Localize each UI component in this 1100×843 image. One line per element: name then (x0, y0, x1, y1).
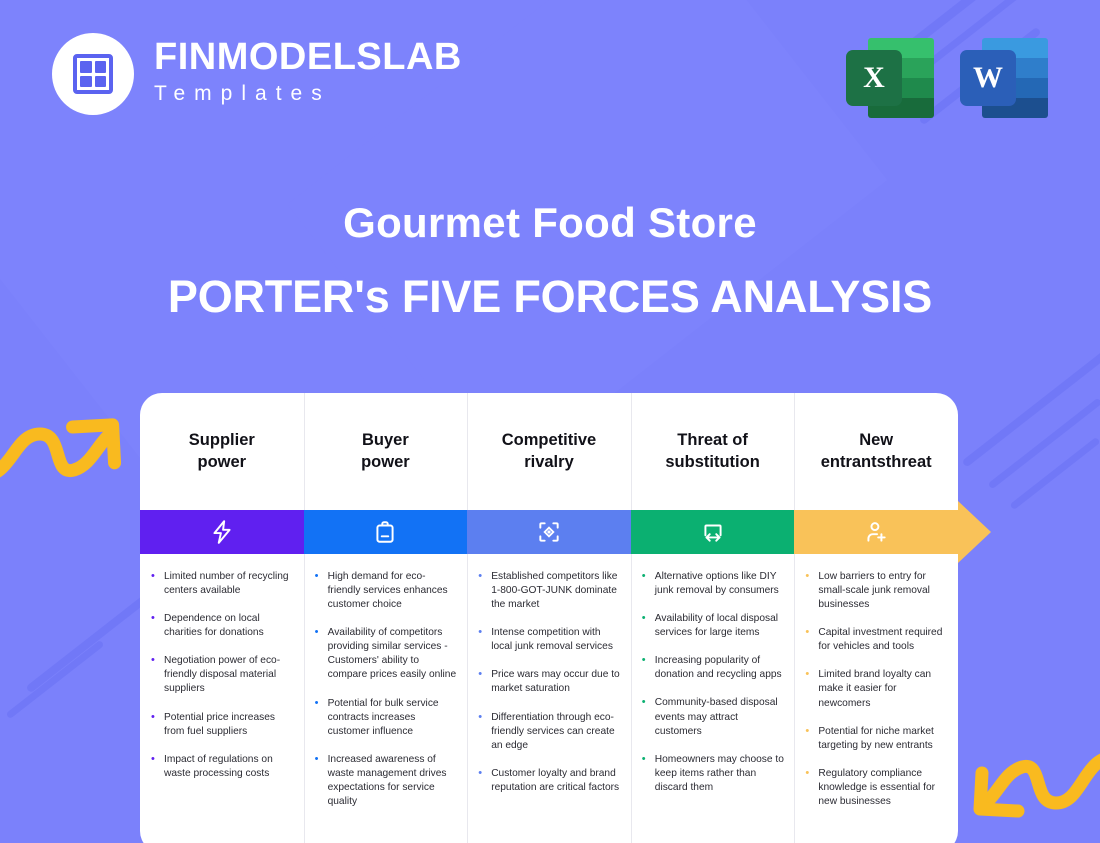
office-format-icons: X W (846, 30, 1048, 118)
force-header-new-entrants-threat: New entrantsthreat (794, 393, 958, 510)
page-header: FINMODELSLAB Templates X W (0, 0, 1100, 150)
bullet-item: Limited brand loyalty can make it easier… (802, 668, 948, 710)
bullet-item: Availability of competitors providing si… (312, 626, 458, 682)
brand-name: FINMODELSLAB (154, 38, 462, 78)
force-bullets-competitive-rivalry: Established competitors like 1-800-GOT-J… (467, 554, 631, 843)
bullet-item: Low barriers to entry for small-scale ju… (802, 570, 948, 612)
curved-arrow-up-right-icon (0, 404, 127, 484)
bullet-item: Potential for niche market targeting by … (802, 725, 948, 753)
bullet-item: Intense competition with local junk remo… (475, 626, 621, 654)
bullet-item: Availability of local disposal services … (639, 612, 785, 640)
force-column-buyer-power: Buyer power High demand for eco-friendly… (304, 393, 468, 843)
brand-logo[interactable]: FINMODELSLAB Templates (52, 33, 462, 115)
bullet-item: Limited number of recycling centers avai… (148, 570, 294, 598)
force-title-line1: Competitive (502, 431, 596, 449)
title-block: Gourmet Food Store PORTER's FIVE FORCES … (0, 198, 1100, 324)
briefcase-minus-icon (372, 519, 398, 545)
force-band-new-entrants-threat (794, 510, 958, 554)
logo-circle (52, 33, 134, 115)
bullet-item: Alternative options like DIY junk remova… (639, 570, 785, 598)
lightning-bolt-icon (209, 519, 235, 545)
bullet-item: Impact of regulations on waste processin… (148, 753, 294, 781)
force-title-line2: power (197, 453, 246, 471)
force-header-competitive-rivalry: Competitive rivalry (467, 393, 631, 510)
force-title-line1: Threat of (677, 431, 748, 449)
bullet-item: Increased awareness of waste management … (312, 753, 458, 809)
bullet-item: Capital investment required for vehicles… (802, 626, 948, 654)
grid-squares-icon (73, 54, 113, 94)
bullet-item: High demand for eco-friendly services en… (312, 570, 458, 612)
word-badge: W (960, 50, 1016, 106)
force-title-line2: entrantsthreat (821, 453, 932, 471)
force-header-threat-of-substitution: Threat of substitution (631, 393, 795, 510)
bullet-item: Regulatory compliance knowledge is essen… (802, 767, 948, 809)
force-bullets-buyer-power: High demand for eco-friendly services en… (304, 554, 468, 843)
force-column-competitive-rivalry: Competitive rivalry Established competit… (467, 393, 631, 843)
force-band-threat-of-substitution (631, 510, 795, 554)
force-title-line2: substitution (665, 453, 759, 471)
bullet-item: Homeowners may choose to keep items rath… (639, 753, 785, 795)
bullet-item: Dependence on local charities for donati… (148, 612, 294, 640)
curved-arrow-down-left-icon (964, 743, 1100, 828)
force-column-supplier-power: Supplier power Limited number of recycli… (140, 393, 304, 843)
force-title-line2: power (361, 453, 410, 471)
force-title-line1: Supplier (189, 431, 255, 449)
user-plus-icon (863, 519, 889, 545)
force-bullets-supplier-power: Limited number of recycling centers avai… (140, 554, 304, 843)
bullet-item: Customer loyalty and brand reputation ar… (475, 767, 621, 795)
excel-icon[interactable]: X (846, 30, 934, 118)
page-subtitle: PORTER's FIVE FORCES ANALYSIS (0, 270, 1100, 324)
bullet-item: Negotiation power of eco-friendly dispos… (148, 654, 294, 696)
force-title-line1: New (859, 431, 893, 449)
bullet-item: Community-based disposal events may attr… (639, 696, 785, 738)
force-column-new-entrants-threat: New entrantsthreat Low barriers to entry… (794, 393, 958, 843)
target-focus-icon (536, 519, 562, 545)
force-band-competitive-rivalry (467, 510, 631, 554)
force-bullets-new-entrants-threat: Low barriers to entry for small-scale ju… (794, 554, 958, 843)
porters-five-forces-card: Supplier power Limited number of recycli… (140, 393, 958, 843)
bullet-item: Potential for bulk service contracts inc… (312, 697, 458, 739)
force-title-line1: Buyer (362, 431, 409, 449)
bullet-item: Differentiation through eco-friendly ser… (475, 711, 621, 753)
bullet-item: Price wars may occur due to market satur… (475, 668, 621, 696)
bullet-item: Potential price increases from fuel supp… (148, 711, 294, 739)
force-header-supplier-power: Supplier power (140, 393, 304, 510)
force-bullets-threat-of-substitution: Alternative options like DIY junk remova… (631, 554, 795, 843)
force-title-line2: rivalry (524, 453, 574, 471)
word-icon[interactable]: W (960, 30, 1048, 118)
bullet-item: Established competitors like 1-800-GOT-J… (475, 570, 621, 612)
bullet-item: Increasing popularity of donation and re… (639, 654, 785, 682)
page-title: Gourmet Food Store (0, 198, 1100, 248)
force-band-supplier-power (140, 510, 304, 554)
brand-subtitle: Templates (154, 78, 462, 110)
force-column-threat-of-substitution: Threat of substitution Alternative optio… (631, 393, 795, 843)
swap-exchange-icon (700, 519, 726, 545)
force-band-buyer-power (304, 510, 468, 554)
excel-badge: X (846, 50, 902, 106)
force-header-buyer-power: Buyer power (304, 393, 468, 510)
forces-table: Supplier power Limited number of recycli… (140, 393, 958, 843)
